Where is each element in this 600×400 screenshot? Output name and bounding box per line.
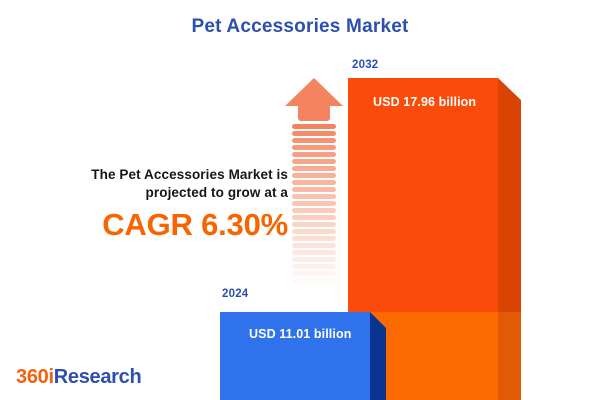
arrow-stripe — [292, 264, 336, 269]
arrow-stripe — [292, 159, 336, 164]
growth-arrow-icon — [285, 78, 343, 290]
arrow-head-icon — [285, 78, 343, 106]
arrow-stripe — [292, 145, 336, 150]
bar-2024-front-face — [220, 312, 370, 400]
arrow-stripe — [292, 166, 336, 171]
arrow-stripe — [292, 243, 336, 248]
arrow-stripe — [292, 229, 336, 234]
bar-2024-value-label: USD 11.01 billion — [249, 327, 351, 341]
bar-2032-value-label: USD 17.96 billion — [373, 95, 476, 109]
brand-logo-secondary: Research — [54, 366, 142, 388]
arrow-stripe — [292, 194, 336, 199]
arrow-stripe — [292, 222, 336, 227]
arrow-stripe — [292, 138, 336, 143]
arrow-stripe — [292, 180, 336, 185]
bar-2024-category-label: 2024 — [222, 288, 248, 300]
arrow-stripe — [292, 152, 336, 157]
brand-logo: 360iResearch — [16, 366, 141, 389]
arrow-stripe — [292, 278, 336, 283]
arrow-stripe — [292, 257, 336, 262]
arrow-stripe — [292, 124, 336, 129]
arrow-stripe — [292, 187, 336, 192]
infographic-canvas: Pet Accessories Market The Pet Accessori… — [0, 0, 600, 400]
bar-2032-side-face-lower — [498, 312, 521, 400]
arrow-stripe — [292, 201, 336, 206]
cagr-statement-block: The Pet Accessories Market is projected … — [48, 166, 288, 243]
bar-2032-category-label: 2032 — [352, 59, 378, 71]
brand-logo-primary: 360i — [16, 366, 54, 388]
page-title: Pet Accessories Market — [0, 16, 600, 38]
arrow-stripe — [292, 131, 336, 136]
arrow-stripe — [292, 173, 336, 178]
arrow-stripe — [292, 215, 336, 220]
arrow-neck-icon — [298, 105, 330, 121]
arrow-stripe — [292, 271, 336, 276]
cagr-statement-text: The Pet Accessories Market is projected … — [48, 166, 288, 202]
arrow-stripe — [292, 208, 336, 213]
arrow-stripe — [292, 285, 336, 290]
bar-2024-side-face — [370, 312, 386, 400]
bar-2024 — [220, 312, 386, 400]
cagr-value: CAGR 6.30% — [48, 207, 288, 243]
arrow-stripe — [292, 250, 336, 255]
arrow-stripe — [292, 236, 336, 241]
